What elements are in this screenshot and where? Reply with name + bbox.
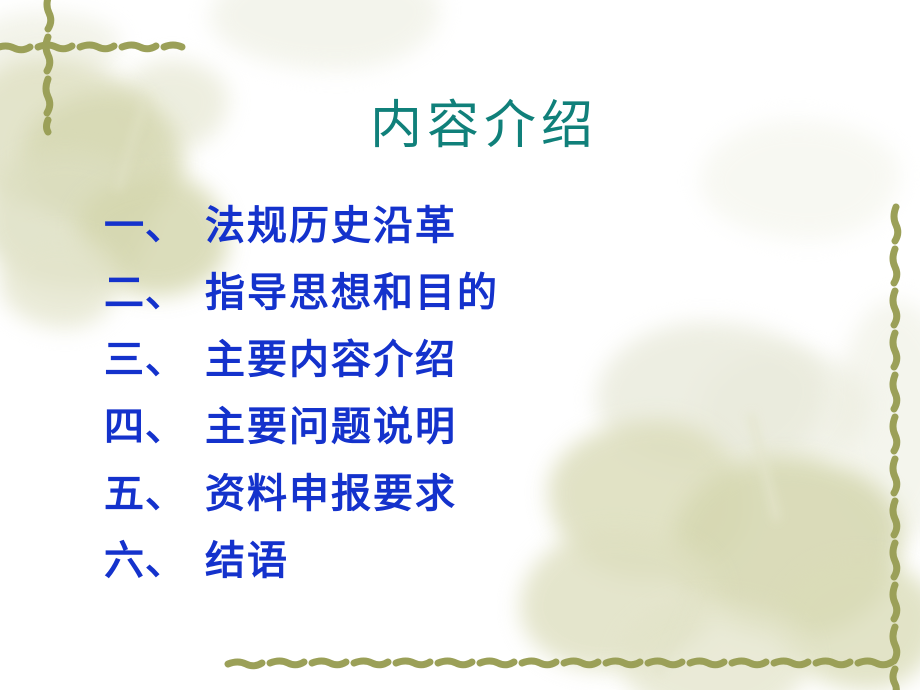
bamboo-rule-right-vertical-icon xyxy=(890,204,901,690)
watermark-blob-top xyxy=(210,0,440,70)
agenda-item-2[interactable]: 二、 指导思想和目的 xyxy=(104,270,804,337)
agenda-item-label: 主要问题说明 xyxy=(205,404,457,450)
agenda-list: 一、 法规历史沿革 二、 指导思想和目的 三、 主要内容介绍 四、 主要问题说明… xyxy=(104,203,804,605)
bamboo-rule-top-left-icon xyxy=(0,41,190,52)
agenda-item-label: 主要内容介绍 xyxy=(205,337,457,383)
agenda-item-1[interactable]: 一、 法规历史沿革 xyxy=(104,203,804,270)
agenda-item-5[interactable]: 五、 资料申报要求 xyxy=(104,471,804,538)
watermark-blob-bottomright-8 xyxy=(836,300,920,540)
slide-title: 内容介绍 xyxy=(0,96,920,156)
watermark-blob-bottomright-7 xyxy=(620,600,810,690)
agenda-item-number: 一、 xyxy=(104,203,205,249)
agenda-item-label: 资料申报要求 xyxy=(205,471,457,517)
agenda-item-number: 四、 xyxy=(104,404,205,450)
agenda-item-number: 六、 xyxy=(104,538,205,584)
agenda-item-number: 二、 xyxy=(104,270,205,316)
agenda-item-4[interactable]: 四、 主要问题说明 xyxy=(104,404,804,471)
agenda-item-label: 指导思想和目的 xyxy=(205,270,499,316)
slide-canvas: 内容介绍 一、 法规历史沿革 二、 指导思想和目的 三、 主要内容介绍 四、 主… xyxy=(0,0,920,690)
agenda-item-6[interactable]: 六、 结语 xyxy=(104,538,804,605)
watermark-blob-topleft-5 xyxy=(0,236,120,328)
bamboo-rule-bottom-icon xyxy=(226,657,906,668)
agenda-item-number: 五、 xyxy=(104,471,205,517)
agenda-item-3[interactable]: 三、 主要内容介绍 xyxy=(104,337,804,404)
agenda-item-label: 法规历史沿革 xyxy=(205,203,457,249)
agenda-item-number: 三、 xyxy=(104,337,205,383)
agenda-item-label: 结语 xyxy=(205,538,289,584)
